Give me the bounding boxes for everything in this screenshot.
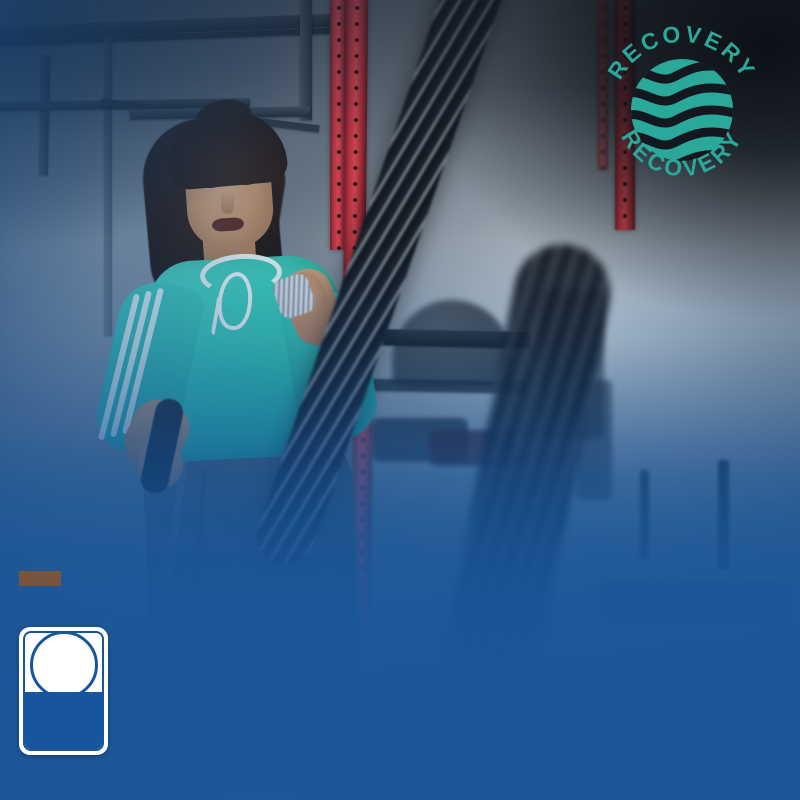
nsf-band xyxy=(25,692,102,749)
nsf-badge-frame xyxy=(23,631,104,751)
product-banner: RECOVERY RECOVERY xyxy=(0,0,800,800)
benefits-list xyxy=(118,625,790,639)
nsf-certified-sport-badge[interactable] xyxy=(19,627,108,755)
flavor-badge[interactable] xyxy=(19,571,61,586)
recovery-logo[interactable]: RECOVERY RECOVERY xyxy=(594,22,770,198)
nsf-mark-circle xyxy=(30,631,98,699)
